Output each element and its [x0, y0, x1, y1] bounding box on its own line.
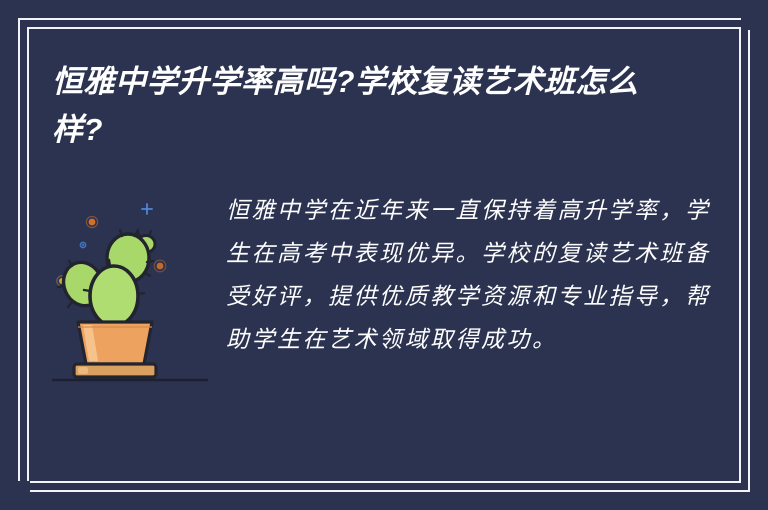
frame-corner-mask-bottom	[18, 481, 30, 493]
potted-cactus-icon	[52, 196, 212, 386]
sparkle-plus-blue	[142, 204, 152, 214]
cactus-pad-center	[90, 266, 138, 326]
content-row: 恒雅中学在近年来一直保持着高升学率，学生在高考中表现优异。学校的复读艺术班备受好…	[52, 190, 712, 450]
cactus-illustration	[52, 196, 212, 386]
body-paragraph: 恒雅中学在近年来一直保持着高升学率，学生在高考中表现优异。学校的复读艺术班备受好…	[226, 190, 712, 362]
sparkle-dot-blue	[82, 244, 84, 246]
poster-canvas: 恒雅中学升学率高吗?学校复读艺术班怎么样?	[0, 0, 768, 510]
page-title: 恒雅中学升学率高吗?学校复读艺术班怎么样?	[52, 58, 672, 154]
pot-base-highlight	[78, 367, 88, 374]
frame-corner-mask-right	[741, 18, 753, 30]
sparkle-dot-orange-top	[89, 219, 96, 226]
sparkle-dot-orange-right	[157, 263, 164, 270]
